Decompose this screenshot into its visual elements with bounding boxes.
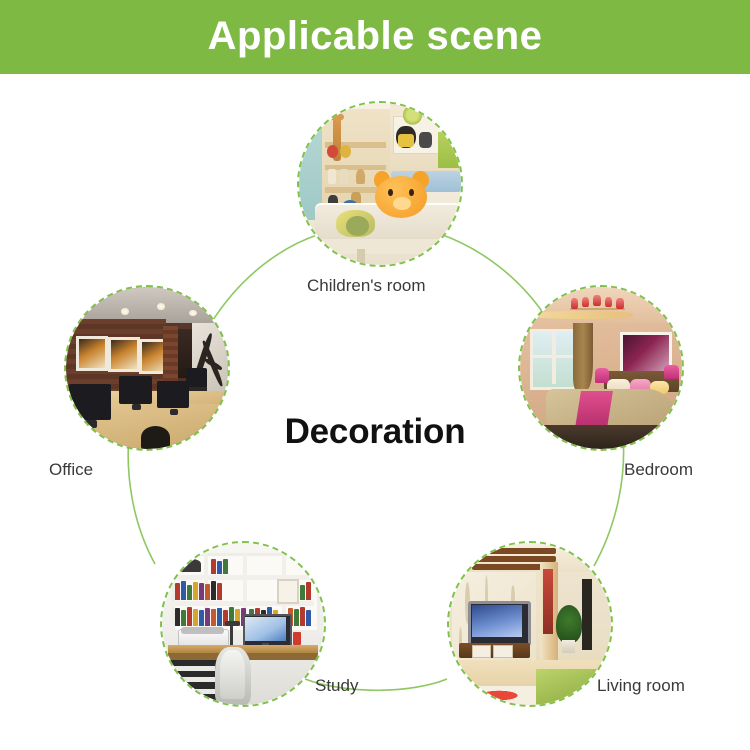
node-bedroom[interactable]: Bedroom — [518, 285, 684, 451]
childrens-room-circle — [297, 101, 463, 267]
living-room-circle — [447, 541, 613, 707]
office-photo — [66, 287, 228, 449]
living-room-label: Living room — [597, 676, 685, 696]
center-label: Decoration — [225, 412, 525, 452]
node-childrens-room[interactable]: Children's room — [297, 101, 463, 267]
header-banner: Applicable scene — [0, 0, 750, 74]
living-room-photo — [449, 543, 611, 705]
office-label: Office — [49, 460, 93, 480]
applicable-scene-infographic: Applicable scene Decoration — [0, 0, 750, 750]
page-title: Applicable scene — [208, 16, 543, 56]
node-living-room[interactable]: Living room — [447, 541, 613, 707]
bedroom-label: Bedroom — [624, 460, 693, 480]
bedroom-circle — [518, 285, 684, 451]
node-office[interactable]: Office — [64, 285, 230, 451]
childrens-room-photo — [299, 103, 461, 265]
scene-diagram: Decoration — [0, 74, 750, 750]
office-circle — [64, 285, 230, 451]
study-label: Study — [315, 676, 358, 696]
study-photo — [162, 543, 324, 705]
childrens-room-label: Children's room — [307, 276, 426, 296]
bedroom-photo — [520, 287, 682, 449]
node-study[interactable]: Study — [160, 541, 326, 707]
study-circle — [160, 541, 326, 707]
